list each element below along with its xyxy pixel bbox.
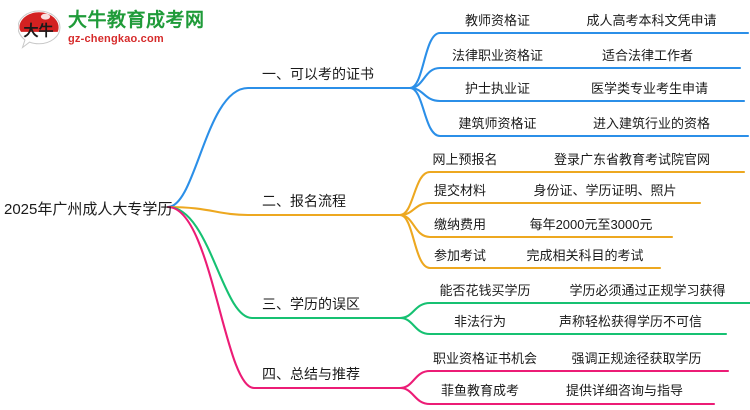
leaf-description: 声称轻松获得学历不可信 bbox=[535, 311, 726, 330]
leaf-item[interactable]: 法律职业资格证 适合法律工作者 bbox=[440, 41, 740, 67]
leaf-label: 缴纳费用 bbox=[410, 214, 510, 233]
leaf-label: 职业资格证书机会 bbox=[425, 348, 545, 367]
branch-label: 二、报名流程 bbox=[262, 191, 346, 211]
leaf-label: 教师资格证 bbox=[440, 10, 555, 29]
branch-title-2[interactable]: 二、报名流程 bbox=[262, 189, 346, 211]
leaf-description: 完成相关科目的考试 bbox=[510, 245, 660, 264]
leaf-description: 适合法律工作者 bbox=[555, 45, 740, 64]
leaf-description: 登录广东省教育考试院官网 bbox=[520, 149, 744, 168]
branch-title-3[interactable]: 三、学历的误区 bbox=[262, 292, 360, 314]
leaf-item[interactable]: 职业资格证书机会 强调正规途径获取学历 bbox=[425, 344, 728, 370]
leaf-item[interactable]: 提交材料 身份证、学历证明、照片 bbox=[410, 176, 700, 202]
leaf-label: 非法行为 bbox=[425, 311, 535, 330]
branch-label: 三、学历的误区 bbox=[262, 294, 360, 314]
leaf-item[interactable]: 缴纳费用 每年2000元至3000元 bbox=[410, 210, 672, 236]
root-node-label: 2025年广州成人大专学历 bbox=[4, 198, 172, 219]
leaf-label: 法律职业资格证 bbox=[440, 45, 555, 64]
branch-title-1[interactable]: 一、可以考的证书 bbox=[262, 62, 374, 84]
branch-label: 四、总结与推荐 bbox=[262, 364, 360, 384]
branch-label: 一、可以考的证书 bbox=[262, 64, 374, 84]
leaf-item[interactable]: 护士执业证 医学类专业考生申请 bbox=[440, 74, 744, 100]
leaf-label: 参加考试 bbox=[410, 245, 510, 264]
leaf-description: 身份证、学历证明、照片 bbox=[510, 180, 700, 199]
leaf-description: 提供详细咨询与指导 bbox=[535, 380, 714, 399]
leaf-item[interactable]: 参加考试 完成相关科目的考试 bbox=[410, 241, 660, 267]
leaf-description: 学历必须通过正规学习获得 bbox=[545, 280, 750, 299]
leaf-label: 能否花钱买学历 bbox=[425, 280, 545, 299]
leaf-description: 进入建筑行业的资格 bbox=[555, 113, 748, 132]
leaf-label: 建筑师资格证 bbox=[440, 113, 555, 132]
leaf-item[interactable]: 菲鱼教育成考 提供详细咨询与指导 bbox=[425, 376, 714, 402]
leaf-label: 护士执业证 bbox=[440, 78, 555, 97]
leaf-item[interactable]: 网上预报名 登录广东省教育考试院官网 bbox=[410, 145, 744, 171]
root-node[interactable]: 2025年广州成人大专学历 bbox=[4, 195, 169, 221]
leaf-item[interactable]: 教师资格证 成人高考本科文凭申请 bbox=[440, 6, 748, 32]
leaf-description: 每年2000元至3000元 bbox=[510, 214, 672, 233]
leaf-description: 成人高考本科文凭申请 bbox=[555, 10, 748, 29]
leaf-label: 提交材料 bbox=[410, 180, 510, 199]
leaf-description: 医学类专业考生申请 bbox=[555, 78, 744, 97]
leaf-description: 强调正规途径获取学历 bbox=[545, 348, 728, 367]
leaf-item[interactable]: 非法行为 声称轻松获得学历不可信 bbox=[425, 307, 726, 333]
mindmap-canvas: 大牛 大牛教育成考网 gz-chengkao.com bbox=[0, 0, 750, 410]
branch-title-4[interactable]: 四、总结与推荐 bbox=[262, 362, 360, 384]
leaf-label: 网上预报名 bbox=[410, 149, 520, 168]
leaf-item[interactable]: 建筑师资格证 进入建筑行业的资格 bbox=[440, 109, 748, 135]
leaf-item[interactable]: 能否花钱买学历 学历必须通过正规学习获得 bbox=[425, 276, 750, 302]
leaf-label: 菲鱼教育成考 bbox=[425, 380, 535, 399]
